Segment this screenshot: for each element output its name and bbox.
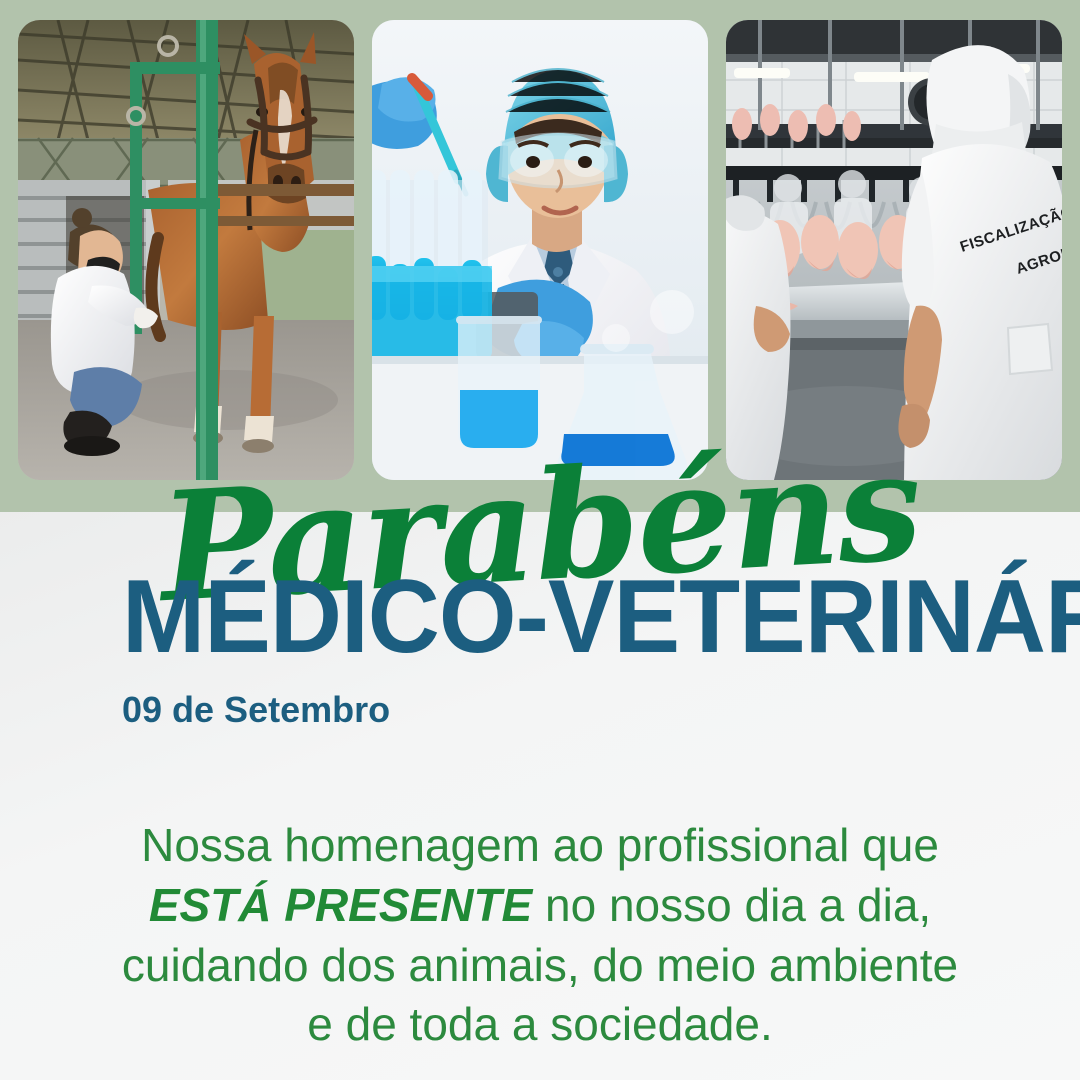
- photo-poultry-inspection: FISCALIZAÇÃO AGROPECU: [726, 20, 1062, 480]
- photo-strip: FISCALIZAÇÃO AGROPECU: [18, 20, 1062, 480]
- tribute-part-one: Nossa homenagem ao profissional que: [141, 819, 939, 871]
- horse-stable-illustration: [18, 20, 354, 480]
- event-date: 09 de Setembro: [122, 692, 390, 728]
- tribute-paragraph: Nossa homenagem ao profissional que ESTÁ…: [118, 816, 962, 1055]
- photo-veterinarian-treating-horse: [18, 20, 354, 480]
- lab-technician-illustration: [372, 20, 708, 480]
- tribute-emphasis: ESTÁ PRESENTE: [149, 879, 532, 931]
- page-title: MÉDICO-VETERINÁRIO: [122, 570, 948, 666]
- photo-laboratory-technician: [372, 20, 708, 480]
- poster-canvas: FISCALIZAÇÃO AGROPECU Parabéns MÉDICO-VE…: [0, 0, 1080, 1080]
- poultry-plant-illustration: FISCALIZAÇÃO AGROPECU: [726, 20, 1062, 480]
